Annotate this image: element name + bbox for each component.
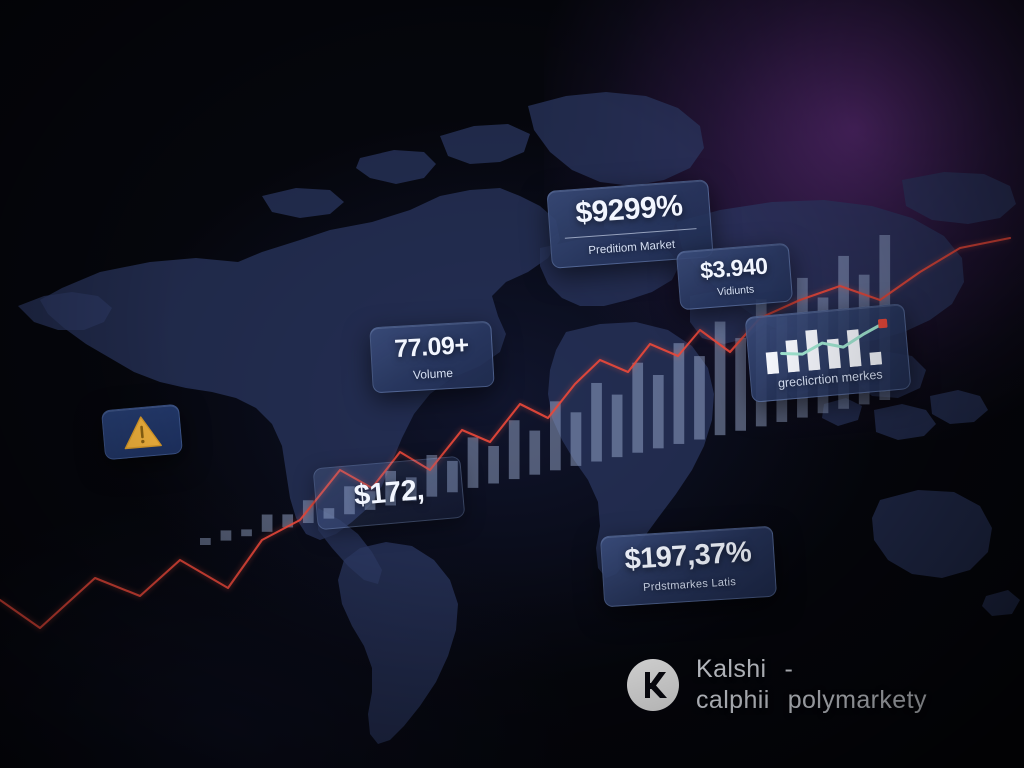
mini-chart-bar [869, 352, 882, 366]
brand-wordmark: Kalshi - calphii polymarkety [696, 655, 927, 714]
stat-value: $172, [353, 476, 425, 511]
stat-card-volume-left[interactable]: 77.09+ Volume [369, 321, 494, 394]
brand-footer: Kalshi - calphii polymarkety [627, 655, 927, 714]
mini-chart-bar [785, 340, 799, 373]
brand-line1-left: Kalshi [696, 655, 767, 683]
card-divider [565, 228, 697, 239]
stat-value: $197,37% [624, 538, 752, 575]
kalshi-k-logo [627, 659, 679, 711]
scene-canvas: $9299% Preditiom Market $3.940 Vidiunts … [0, 0, 1024, 768]
brand-line1-right: - [785, 655, 794, 683]
stat-value: $3.940 [699, 254, 768, 282]
stat-label: Prdstmarkes Latis [643, 577, 737, 594]
stat-card-amount[interactable]: $172, [313, 456, 466, 531]
stat-value: $9299% [560, 190, 698, 230]
stat-value: 77.09+ [394, 332, 469, 361]
mini-chart-end-marker [878, 319, 888, 329]
stat-label: Vidiunts [717, 284, 755, 297]
stat-card-minichart[interactable]: greclicrtion merkes [745, 303, 912, 403]
stat-card-warning[interactable] [101, 404, 183, 461]
stat-card-markets[interactable]: $197,37% Prdstmarkes Latis [600, 526, 777, 608]
bar-chart-trend-icon [761, 316, 893, 375]
brand-line2-left: calphii [696, 686, 770, 714]
warning-triangle-icon [121, 413, 164, 450]
stat-label: Volume [413, 366, 454, 380]
mini-chart-bar [847, 330, 862, 368]
brand-line2-right: polymarkety [788, 686, 927, 714]
mini-chart-bar [766, 352, 779, 375]
stat-card-volume-right[interactable]: $3.940 Vidiunts [676, 243, 793, 311]
